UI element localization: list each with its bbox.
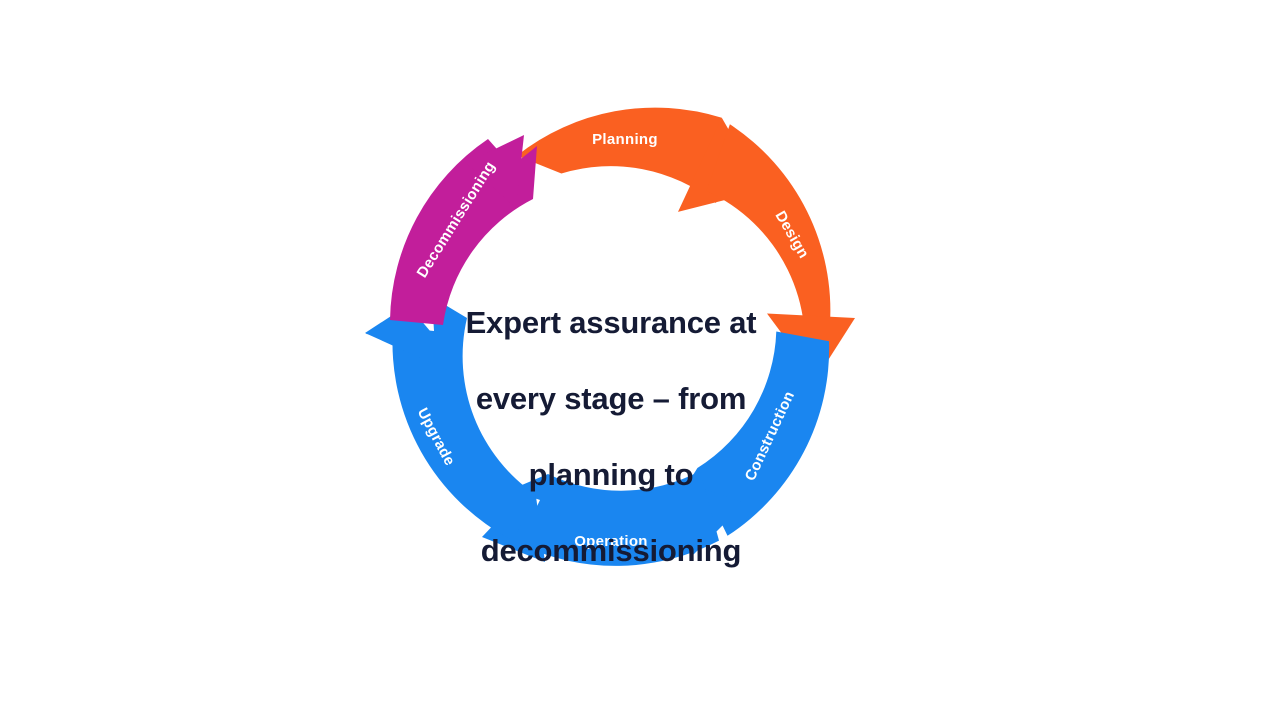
center-text-line-2: every stage – from xyxy=(455,380,767,418)
center-text: Expert assurance at every stage – from p… xyxy=(455,266,767,608)
segment-label-planning: Planning xyxy=(592,131,658,148)
center-text-line-3: planning to xyxy=(455,456,767,494)
cycle-diagram: Planning Design Construction Operation U… xyxy=(0,0,1280,720)
center-text-line-4: decommissioning xyxy=(455,532,767,570)
center-text-line-1: Expert assurance at xyxy=(455,304,767,342)
